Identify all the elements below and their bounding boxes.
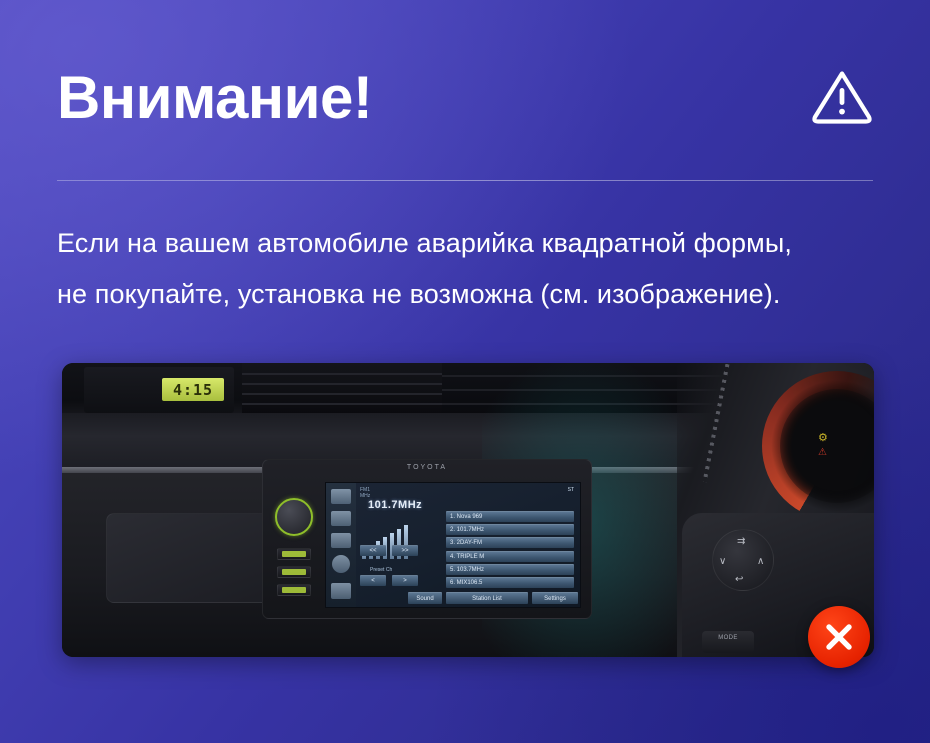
- body-line-2: не покупайте, установка не возможна (см.…: [57, 269, 887, 320]
- sound-button[interactable]: Sound: [408, 592, 442, 604]
- left-air-vent: [242, 363, 442, 415]
- steering-wheel-controls[interactable]: ⇉ ∨ ∧ ↩: [712, 529, 774, 591]
- tune-down-button[interactable]: <<: [360, 545, 386, 556]
- warning-triangle-icon: [811, 68, 873, 129]
- list-item[interactable]: 6. MIX106.5: [446, 577, 574, 588]
- band-label: FM1 MHz: [360, 487, 370, 499]
- list-item[interactable]: 5. 103.7MHz: [446, 564, 574, 575]
- swc-down-icon[interactable]: ∨: [719, 556, 726, 567]
- cluster-face: [780, 389, 874, 503]
- list-item[interactable]: 2. 101.7MHz: [446, 524, 574, 535]
- preset-station-list[interactable]: 1. Nova 969 2. 101.7MHz 3. 2DAY-FM 4. TR…: [446, 511, 574, 590]
- audio-button[interactable]: [277, 548, 311, 560]
- menu-button[interactable]: [277, 584, 311, 596]
- screen-sidebar: [326, 483, 356, 607]
- seek-next-button[interactable]: >: [392, 575, 418, 586]
- map-button[interactable]: [277, 566, 311, 578]
- volume-knob[interactable]: [275, 498, 313, 536]
- frequency-display: 101.7MHz: [368, 499, 422, 511]
- body-line-1: Если на вашем автомобиле аварийка квадра…: [57, 218, 887, 269]
- page-title: Внимание!: [57, 68, 372, 128]
- radio-head-unit: TOYOTA FM1 MHz ST 101.7MHz: [262, 459, 592, 619]
- swc-back-icon[interactable]: ↩: [735, 574, 743, 585]
- engine-warning-light: ⚙: [818, 431, 828, 444]
- seek-prev-button[interactable]: <: [360, 575, 386, 586]
- clock-display: 4:15: [162, 378, 224, 401]
- tune-up-button[interactable]: >>: [392, 545, 418, 556]
- signal-strength-graphic: [360, 519, 440, 565]
- stereo-indicator: ST: [568, 487, 574, 493]
- body-copy: Если на вашем автомобиле аварийка квадра…: [57, 218, 887, 320]
- list-item[interactable]: 3. 2DAY-FM: [446, 537, 574, 548]
- header-divider: [57, 180, 873, 181]
- list-item[interactable]: 1. Nova 969: [446, 511, 574, 522]
- car-dashboard-photo: 4:15 TOYOTA FM1: [62, 363, 874, 657]
- red-warning-light: ⚠: [818, 447, 827, 458]
- list-item[interactable]: 4. TRIPLE M: [446, 551, 574, 562]
- cross-icon: [808, 606, 870, 668]
- swc-up-icon[interactable]: ∧: [757, 556, 764, 567]
- warning-banner: Внимание! Если на вашем автомобиле авари…: [0, 0, 930, 743]
- preset-channel-label: Preset Ch: [370, 567, 392, 573]
- glovebox-panel: [106, 513, 276, 603]
- banner-header: Внимание!: [57, 52, 873, 144]
- toyota-brand-label: TOYOTA: [263, 464, 591, 471]
- radio-screen[interactable]: FM1 MHz ST 101.7MHz Preset Ch << >> <: [325, 482, 581, 608]
- swc-next-icon[interactable]: ⇉: [737, 536, 745, 547]
- settings-button[interactable]: Settings: [532, 592, 578, 604]
- clock-pod: 4:15: [84, 367, 234, 413]
- station-list-button[interactable]: Station List: [446, 592, 528, 604]
- mode-button[interactable]: MODE: [702, 631, 754, 653]
